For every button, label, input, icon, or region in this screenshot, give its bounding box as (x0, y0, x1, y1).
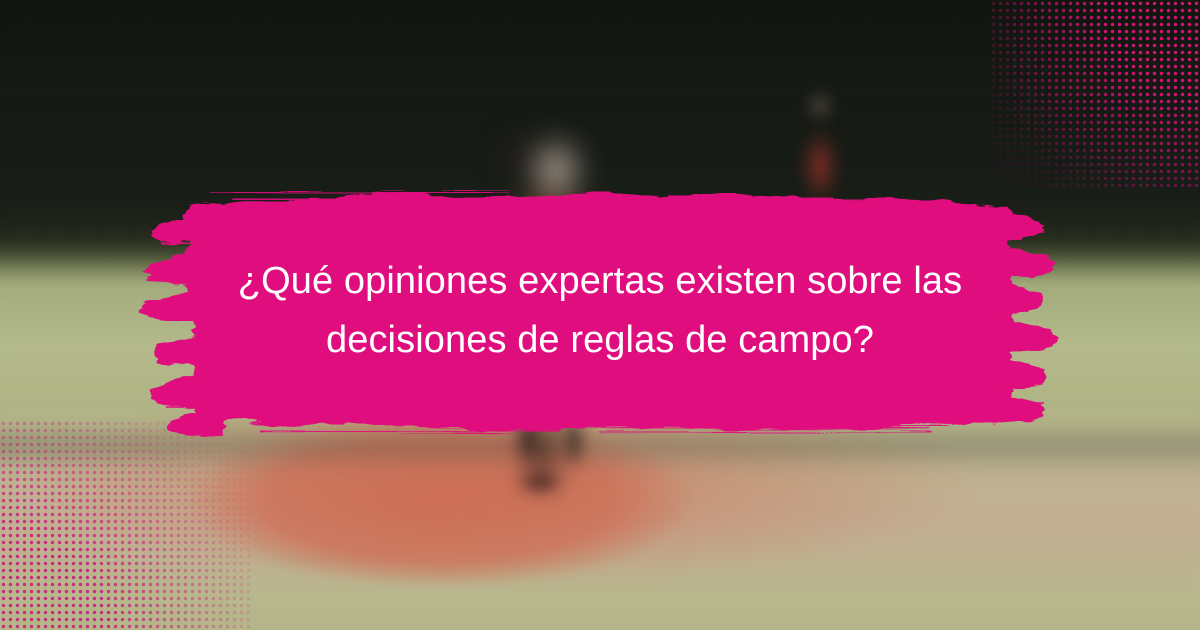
headline-container: ¿Qué opiniones expertas existen sobre la… (0, 196, 1200, 426)
social-card: ¿Qué opiniones expertas existen sobre la… (0, 0, 1200, 630)
page-title: ¿Qué opiniones expertas existen sobre la… (210, 252, 990, 369)
